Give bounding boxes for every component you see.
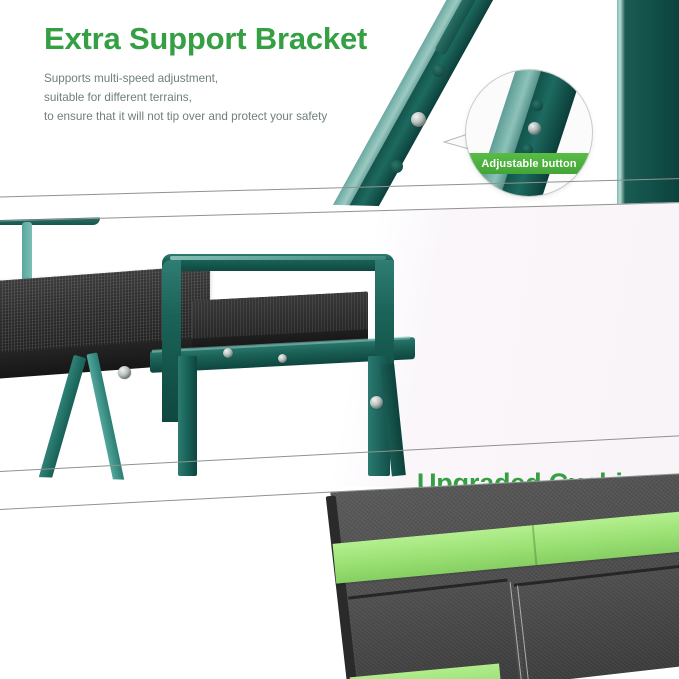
panel-upgraded-cushion: Upgraded Cushion And Fame The seat cushi… [0,196,679,496]
panel1-text: Extra Support Bracket Supports multi-spe… [44,22,367,127]
infographic-canvas: Adjustable button Extra Support Bracket … [0,0,679,679]
panel-extra-support-bracket: Adjustable button Extra Support Bracket … [0,0,679,232]
panel1-body: Supports multi-speed adjustment, suitabl… [44,70,367,127]
callout-banner-label: Adjustable button [481,158,576,170]
adjustment-hole-icon [432,64,445,77]
bag-pocket-right [514,563,679,679]
oxford-tool-bag [330,470,679,679]
adjustment-pin-icon [411,112,426,127]
stool-leg-front [178,356,197,476]
frame-vertical-post [617,0,679,232]
callout-hole-icon [532,100,543,111]
u-frame-highlight [170,256,386,260]
adjustment-hole-icon [390,160,403,173]
rail-bolt-icon [223,348,233,358]
callout-banner: Adjustable button [466,153,592,174]
magnifier-callout: Adjustable button [466,70,592,196]
callout-adjustable-button-icon [528,122,541,135]
panel-spacious-pockets: Spacious pockets 800D Oxford Cloth bag, … [0,470,679,679]
frame-pivot-bolt-icon [370,396,383,409]
cushion-bolt-icon [118,366,131,379]
panel1-heading: Extra Support Bracket [44,22,367,57]
rail-bolt-icon [278,354,287,363]
